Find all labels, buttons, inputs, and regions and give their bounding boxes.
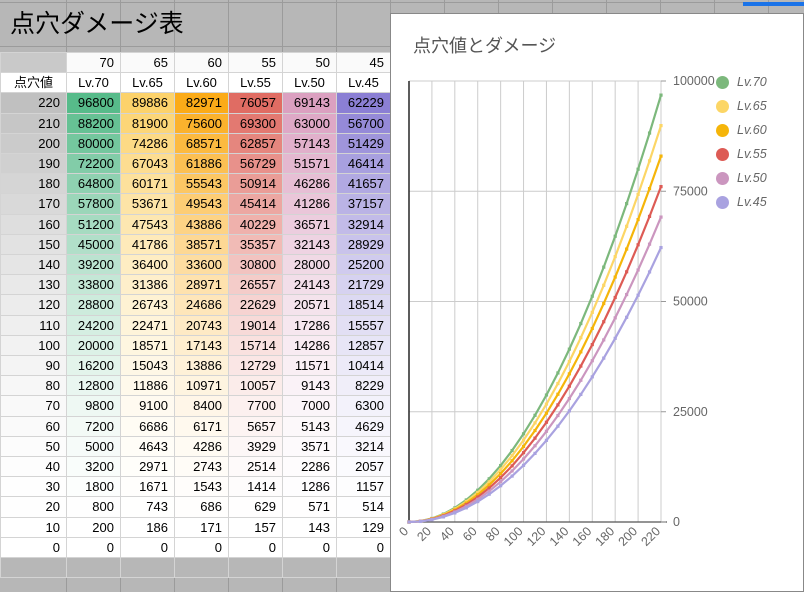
- data-point: [568, 372, 571, 375]
- x-tick-label: 120: [524, 524, 549, 549]
- damage-cell[interactable]: 46286: [283, 174, 337, 194]
- damage-cell[interactable]: 143: [283, 517, 337, 537]
- row-label-cell[interactable]: 80: [1, 376, 67, 396]
- x-tick-label: 60: [460, 524, 480, 544]
- data-point: [533, 429, 536, 432]
- damage-cell[interactable]: 75600: [175, 113, 229, 133]
- data-point: [465, 506, 468, 509]
- damage-cell[interactable]: 20000: [67, 335, 121, 355]
- data-point: [510, 449, 513, 452]
- damage-cell[interactable]: 4643: [121, 436, 175, 456]
- table-row[interactable]: 801280011886109711005791438229: [1, 376, 391, 396]
- y-tick-label: 25000: [673, 405, 708, 419]
- data-point: [614, 235, 617, 238]
- data-point: [499, 484, 502, 487]
- legend-label: Lv.65: [737, 99, 767, 113]
- damage-cell[interactable]: 5657: [229, 416, 283, 436]
- damage-cell[interactable]: 200: [67, 517, 121, 537]
- table-row[interactable]: 40320029712743251422862057: [1, 457, 391, 477]
- data-point: [614, 275, 617, 278]
- data-point: [488, 493, 491, 496]
- damage-cell[interactable]: 1414: [229, 477, 283, 497]
- damage-cell[interactable]: 76057: [229, 93, 283, 113]
- data-point: [614, 316, 617, 319]
- damage-cell[interactable]: 17286: [283, 315, 337, 335]
- damage-cell[interactable]: 17143: [175, 335, 229, 355]
- column-header[interactable]: 点穴値: [1, 73, 67, 93]
- empty-cell: [1, 558, 67, 578]
- table-row[interactable]: 100200001857117143157141428612857: [1, 335, 391, 355]
- table-row[interactable]: 90162001504313886127291157110414: [1, 356, 391, 376]
- data-point: [510, 469, 513, 472]
- row-label-cell[interactable]: 120: [1, 295, 67, 315]
- damage-cell[interactable]: 39200: [67, 255, 121, 275]
- column-header[interactable]: Lv.55: [229, 73, 283, 93]
- empty-cell: [121, 558, 175, 578]
- damage-cell[interactable]: 10414: [337, 356, 391, 376]
- damage-cell[interactable]: 57143: [283, 133, 337, 153]
- damage-cell[interactable]: 21729: [337, 275, 391, 295]
- damage-cell[interactable]: 4286: [175, 436, 229, 456]
- damage-cell[interactable]: 32143: [283, 234, 337, 254]
- legend-label: Lv.45: [737, 195, 767, 209]
- data-point: [591, 295, 594, 298]
- damage-cell[interactable]: 8400: [175, 396, 229, 416]
- row-label-cell[interactable]: 200: [1, 133, 67, 153]
- damage-cell[interactable]: 1800: [67, 477, 121, 497]
- empty-cell: [337, 558, 391, 578]
- data-point: [556, 403, 559, 406]
- damage-cell[interactable]: 28000: [283, 255, 337, 275]
- damage-cell[interactable]: 629: [229, 497, 283, 517]
- damage-cell[interactable]: 129: [337, 517, 391, 537]
- damage-cell[interactable]: 51200: [67, 214, 121, 234]
- damage-cell[interactable]: 15043: [121, 356, 175, 376]
- data-point: [533, 452, 536, 455]
- legend-color-swatch-icon: [716, 196, 729, 209]
- x-tick-label: 20: [414, 524, 434, 544]
- legend-item-lv-50[interactable]: Lv.50: [716, 171, 767, 185]
- data-point: [648, 215, 651, 218]
- legend-item-lv-70[interactable]: Lv.70: [716, 75, 767, 89]
- damage-cell[interactable]: 45414: [229, 194, 283, 214]
- table-row[interactable]: 120288002674324686226292057118514: [1, 295, 391, 315]
- table-row[interactable]: 0000000: [1, 537, 391, 557]
- data-point: [568, 348, 571, 351]
- ghost-cell: 55: [229, 53, 283, 73]
- data-point: [545, 393, 548, 396]
- data-point: [522, 432, 525, 435]
- damage-cell[interactable]: 0: [229, 537, 283, 557]
- legend-item-lv-55[interactable]: Lv.55: [716, 147, 767, 161]
- empty-cell: [283, 558, 337, 578]
- table-row[interactable]: 190722006704361886567295157146414: [1, 154, 391, 174]
- damage-cell[interactable]: 31386: [121, 275, 175, 295]
- damage-cell[interactable]: 53671: [121, 194, 175, 214]
- row-label-cell[interactable]: 180: [1, 174, 67, 194]
- damage-cell[interactable]: 12800: [67, 376, 121, 396]
- damage-cell[interactable]: 8229: [337, 376, 391, 396]
- damage-cell[interactable]: 20571: [283, 295, 337, 315]
- damage-cell[interactable]: 30800: [229, 255, 283, 275]
- svg-text:180: 180: [593, 524, 618, 549]
- x-tick-label: 100: [501, 524, 526, 549]
- damage-cell[interactable]: 12729: [229, 356, 283, 376]
- x-tick-label: 200: [616, 524, 641, 549]
- damage-cell[interactable]: 1286: [283, 477, 337, 497]
- damage-cell[interactable]: 13886: [175, 356, 229, 376]
- damage-cell[interactable]: 49543: [175, 194, 229, 214]
- damage-cell[interactable]: 81900: [121, 113, 175, 133]
- ghost-cell: 60: [175, 53, 229, 73]
- row-label-cell[interactable]: 10: [1, 517, 67, 537]
- damage-cell[interactable]: 18514: [337, 295, 391, 315]
- column-header[interactable]: Lv.45: [337, 73, 391, 93]
- row-label-cell[interactable]: 50: [1, 436, 67, 456]
- data-point: [556, 393, 559, 396]
- damage-cell[interactable]: 2286: [283, 457, 337, 477]
- column-header[interactable]: Lv.60: [175, 73, 229, 93]
- damage-cell[interactable]: 11886: [121, 376, 175, 396]
- damage-cell[interactable]: 2971: [121, 457, 175, 477]
- damage-cell[interactable]: 2743: [175, 457, 229, 477]
- data-point: [545, 421, 548, 424]
- damage-cell[interactable]: 63000: [283, 113, 337, 133]
- data-point: [579, 350, 582, 353]
- data-point: [659, 246, 662, 249]
- data-point: [602, 284, 605, 287]
- damage-cell[interactable]: 24686: [175, 295, 229, 315]
- damage-cell[interactable]: 32914: [337, 214, 391, 234]
- damage-cell[interactable]: 11571: [283, 356, 337, 376]
- table-row[interactable]: 150450004178638571353573214328929: [1, 234, 391, 254]
- data-point: [522, 439, 525, 442]
- row-label-cell[interactable]: 0: [1, 537, 67, 557]
- x-tick-label: 160: [570, 524, 595, 549]
- damage-cell[interactable]: 28929: [337, 234, 391, 254]
- table-row[interactable]: 50500046434286392935713214: [1, 436, 391, 456]
- table-trailing-row: [1, 558, 391, 578]
- data-point: [419, 520, 422, 523]
- damage-cell[interactable]: 68571: [175, 133, 229, 153]
- damage-cell[interactable]: 28800: [67, 295, 121, 315]
- legend-color-swatch-icon: [716, 172, 729, 185]
- data-point: [533, 414, 536, 417]
- damage-cell[interactable]: 51571: [283, 154, 337, 174]
- data-point: [648, 159, 651, 162]
- data-point: [499, 472, 502, 475]
- legend-color-swatch-icon: [716, 100, 729, 113]
- row-label-cell[interactable]: 160: [1, 214, 67, 234]
- damage-cell[interactable]: 22629: [229, 295, 283, 315]
- data-point: [636, 218, 639, 221]
- damage-cell[interactable]: 60171: [121, 174, 175, 194]
- damage-cell[interactable]: 171: [175, 517, 229, 537]
- empty-cell: [67, 558, 121, 578]
- damage-cell[interactable]: 3929: [229, 436, 283, 456]
- damage-cell[interactable]: 6686: [121, 416, 175, 436]
- data-point: [407, 520, 410, 523]
- damage-cell[interactable]: 50914: [229, 174, 283, 194]
- data-point: [648, 187, 651, 190]
- damage-cell[interactable]: 2514: [229, 457, 283, 477]
- damage-cell[interactable]: 61886: [175, 154, 229, 174]
- damage-cell[interactable]: 62857: [229, 133, 283, 153]
- damage-cell[interactable]: 26557: [229, 275, 283, 295]
- damage-cell[interactable]: 186: [121, 517, 175, 537]
- table-row[interactable]: 220968008988682971760576914362229: [1, 93, 391, 113]
- damage-cell[interactable]: 69143: [283, 93, 337, 113]
- data-point: [510, 464, 513, 467]
- damage-cell[interactable]: 6300: [337, 396, 391, 416]
- damage-cell[interactable]: 33800: [67, 275, 121, 295]
- row-label-cell[interactable]: 70: [1, 396, 67, 416]
- damage-cell[interactable]: 1543: [175, 477, 229, 497]
- table-header-row: 点穴値Lv.70Lv.65Lv.60Lv.55Lv.50Lv.45: [1, 73, 391, 93]
- table-row[interactable]: 60720066866171565751434629: [1, 416, 391, 436]
- data-point: [556, 425, 559, 428]
- sheet-title: 点穴ダメージ表: [10, 4, 184, 40]
- damage-cell[interactable]: 25200: [337, 255, 391, 275]
- table-row[interactable]: 110242002247120743190141728615557: [1, 315, 391, 335]
- damage-cell[interactable]: 88200: [67, 113, 121, 133]
- damage-cell[interactable]: 18571: [121, 335, 175, 355]
- data-point: [499, 480, 502, 483]
- damage-cell[interactable]: 9100: [121, 396, 175, 416]
- table-row[interactable]: 180648006017155543509144628641657: [1, 174, 391, 194]
- svg-text:120: 120: [524, 524, 549, 549]
- damage-cell[interactable]: 12857: [337, 335, 391, 355]
- damage-cell[interactable]: 33600: [175, 255, 229, 275]
- damage-cell[interactable]: 37157: [337, 194, 391, 214]
- table-row[interactable]: 140392003640033600308002800025200: [1, 255, 391, 275]
- data-point: [522, 445, 525, 448]
- damage-cell[interactable]: 22471: [121, 315, 175, 335]
- damage-cell[interactable]: 67043: [121, 154, 175, 174]
- table-row[interactable]: 20800743686629571514: [1, 497, 391, 517]
- damage-cell[interactable]: 6171: [175, 416, 229, 436]
- damage-cell[interactable]: 3200: [67, 457, 121, 477]
- row-label-cell[interactable]: 150: [1, 234, 67, 254]
- damage-cell[interactable]: 3571: [283, 436, 337, 456]
- damage-cell[interactable]: 62229: [337, 93, 391, 113]
- damage-cell[interactable]: 57800: [67, 194, 121, 214]
- damage-cell[interactable]: 40229: [229, 214, 283, 234]
- legend-color-swatch-icon: [716, 124, 729, 137]
- damage-cell[interactable]: 36400: [121, 255, 175, 275]
- damage-cell[interactable]: 514: [337, 497, 391, 517]
- row-label-cell[interactable]: 110: [1, 315, 67, 335]
- damage-cell[interactable]: 9143: [283, 376, 337, 396]
- damage-cell[interactable]: 3214: [337, 436, 391, 456]
- damage-cell[interactable]: 0: [283, 537, 337, 557]
- legend-color-swatch-icon: [716, 148, 729, 161]
- damage-cell[interactable]: 5000: [67, 436, 121, 456]
- table-row[interactable]: 210882008190075600693006300056700: [1, 113, 391, 133]
- y-tick-label: 0: [673, 515, 680, 529]
- data-point: [499, 468, 502, 471]
- legend-label: Lv.55: [737, 147, 767, 161]
- damage-cell[interactable]: 1157: [337, 477, 391, 497]
- data-point: [522, 457, 525, 460]
- damage-cell[interactable]: 64800: [67, 174, 121, 194]
- data-point: [579, 393, 582, 396]
- data-point: [556, 414, 559, 417]
- data-point: [510, 454, 513, 457]
- damage-cell[interactable]: 9800: [67, 396, 121, 416]
- data-point: [533, 437, 536, 440]
- damage-cell[interactable]: 0: [67, 537, 121, 557]
- damage-cell[interactable]: 157: [229, 517, 283, 537]
- legend-item-lv-65[interactable]: Lv.65: [716, 99, 767, 113]
- data-point: [453, 511, 456, 514]
- damage-cell[interactable]: 1671: [121, 477, 175, 497]
- data-point: [556, 371, 559, 374]
- table-row[interactable]: 70980091008400770070006300: [1, 396, 391, 416]
- svg-text:220: 220: [638, 524, 663, 549]
- row-label-cell[interactable]: 100: [1, 335, 67, 355]
- damage-cell[interactable]: 571: [283, 497, 337, 517]
- damage-cell[interactable]: 45000: [67, 234, 121, 254]
- damage-cell[interactable]: 96800: [67, 93, 121, 113]
- data-point: [625, 293, 628, 296]
- row-label-cell[interactable]: 210: [1, 113, 67, 133]
- data-point: [533, 444, 536, 447]
- data-point: [602, 302, 605, 305]
- damage-cell[interactable]: 51429: [337, 133, 391, 153]
- damage-cell[interactable]: 10057: [229, 376, 283, 396]
- row-label-cell[interactable]: 220: [1, 93, 67, 113]
- damage-cell[interactable]: 46414: [337, 154, 391, 174]
- damage-cell[interactable]: 80000: [67, 133, 121, 153]
- x-tick-label: 40: [437, 524, 457, 544]
- svg-text:200: 200: [616, 524, 641, 549]
- damage-cell[interactable]: 7000: [283, 396, 337, 416]
- damage-cell[interactable]: 24143: [283, 275, 337, 295]
- row-label-cell[interactable]: 170: [1, 194, 67, 214]
- damage-cell[interactable]: 2057: [337, 457, 391, 477]
- column-header[interactable]: Lv.50: [283, 73, 337, 93]
- damage-cell[interactable]: 0: [121, 537, 175, 557]
- svg-text:140: 140: [547, 524, 572, 549]
- column-header[interactable]: Lv.65: [121, 73, 175, 93]
- damage-cell[interactable]: 28971: [175, 275, 229, 295]
- data-point: [545, 439, 548, 442]
- data-point: [614, 337, 617, 340]
- damage-cell[interactable]: 38571: [175, 234, 229, 254]
- damage-cell[interactable]: 47543: [121, 214, 175, 234]
- table-row[interactable]: 10200186171157143129: [1, 517, 391, 537]
- data-point: [568, 360, 571, 363]
- chart-card[interactable]: 点穴値とダメージ 0250005000075000100000020406080…: [390, 13, 804, 592]
- damage-cell[interactable]: 0: [337, 537, 391, 557]
- legend-label: Lv.50: [737, 171, 767, 185]
- table-row[interactable]: 200800007428668571628575714351429: [1, 133, 391, 153]
- table-row[interactable]: 170578005367149543454144128637157: [1, 194, 391, 214]
- data-point: [442, 515, 445, 518]
- row-label-cell[interactable]: 190: [1, 154, 67, 174]
- damage-cell[interactable]: 41786: [121, 234, 175, 254]
- damage-cell[interactable]: 0: [175, 537, 229, 557]
- column-header[interactable]: Lv.70: [67, 73, 121, 93]
- data-point: [659, 124, 662, 127]
- empty-cell: [229, 558, 283, 578]
- svg-text:0: 0: [396, 524, 411, 539]
- row-label-cell[interactable]: 130: [1, 275, 67, 295]
- damage-cell[interactable]: 4629: [337, 416, 391, 436]
- ghost-cell: 45: [337, 53, 391, 73]
- damage-cell[interactable]: 74286: [121, 133, 175, 153]
- row-label-cell[interactable]: 140: [1, 255, 67, 275]
- svg-text:160: 160: [570, 524, 595, 549]
- damage-cell[interactable]: 72200: [67, 154, 121, 174]
- damage-cell[interactable]: 55543: [175, 174, 229, 194]
- damage-cell[interactable]: 36571: [283, 214, 337, 234]
- damage-cell[interactable]: 19014: [229, 315, 283, 335]
- empty-cell: [175, 558, 229, 578]
- damage-cell[interactable]: 686: [175, 497, 229, 517]
- damage-cell[interactable]: 26743: [121, 295, 175, 315]
- damage-cell[interactable]: 14286: [283, 335, 337, 355]
- damage-cell[interactable]: 5143: [283, 416, 337, 436]
- damage-cell[interactable]: 800: [67, 497, 121, 517]
- data-point: [533, 421, 536, 424]
- damage-table[interactable]: 706560555045点穴値Lv.70Lv.65Lv.60Lv.55Lv.50…: [0, 52, 391, 578]
- damage-cell[interactable]: 10971: [175, 376, 229, 396]
- table-row[interactable]: 160512004754343886402293657132914: [1, 214, 391, 234]
- row-label-cell[interactable]: 90: [1, 356, 67, 376]
- legend-item-lv-45[interactable]: Lv.45: [716, 195, 767, 209]
- damage-cell[interactable]: 69300: [229, 113, 283, 133]
- damage-cell[interactable]: 7200: [67, 416, 121, 436]
- table-row[interactable]: 130338003138628971265572414321729: [1, 275, 391, 295]
- damage-cell[interactable]: 20743: [175, 315, 229, 335]
- ghost-cell: 70: [67, 53, 121, 73]
- data-point: [510, 459, 513, 462]
- damage-cell[interactable]: 743: [121, 497, 175, 517]
- data-point: [591, 375, 594, 378]
- damage-cell[interactable]: 41657: [337, 174, 391, 194]
- damage-cell[interactable]: 35357: [229, 234, 283, 254]
- svg-text:60: 60: [460, 524, 480, 544]
- row-label-cell[interactable]: 40: [1, 457, 67, 477]
- data-point: [591, 359, 594, 362]
- damage-cell[interactable]: 16200: [67, 356, 121, 376]
- damage-cell[interactable]: 15714: [229, 335, 283, 355]
- damage-cell[interactable]: 56700: [337, 113, 391, 133]
- data-point: [636, 168, 639, 171]
- damage-cell[interactable]: 89886: [121, 93, 175, 113]
- damage-cell[interactable]: 15557: [337, 315, 391, 335]
- row-label-cell[interactable]: 30: [1, 477, 67, 497]
- data-point: [625, 270, 628, 273]
- row-label-cell[interactable]: 20: [1, 497, 67, 517]
- x-tick-label: 140: [547, 524, 572, 549]
- damage-cell[interactable]: 56729: [229, 154, 283, 174]
- table-row[interactable]: 30180016711543141412861157: [1, 477, 391, 497]
- damage-cell[interactable]: 82971: [175, 93, 229, 113]
- y-tick-label: 75000: [673, 184, 708, 198]
- data-point: [602, 338, 605, 341]
- row-label-cell[interactable]: 60: [1, 416, 67, 436]
- damage-cell[interactable]: 43886: [175, 214, 229, 234]
- data-point: [625, 202, 628, 205]
- legend-item-lv-60[interactable]: Lv.60: [716, 123, 767, 137]
- damage-cell[interactable]: 24200: [67, 315, 121, 335]
- damage-cell[interactable]: 7700: [229, 396, 283, 416]
- damage-cell[interactable]: 41286: [283, 194, 337, 214]
- data-point: [591, 327, 594, 330]
